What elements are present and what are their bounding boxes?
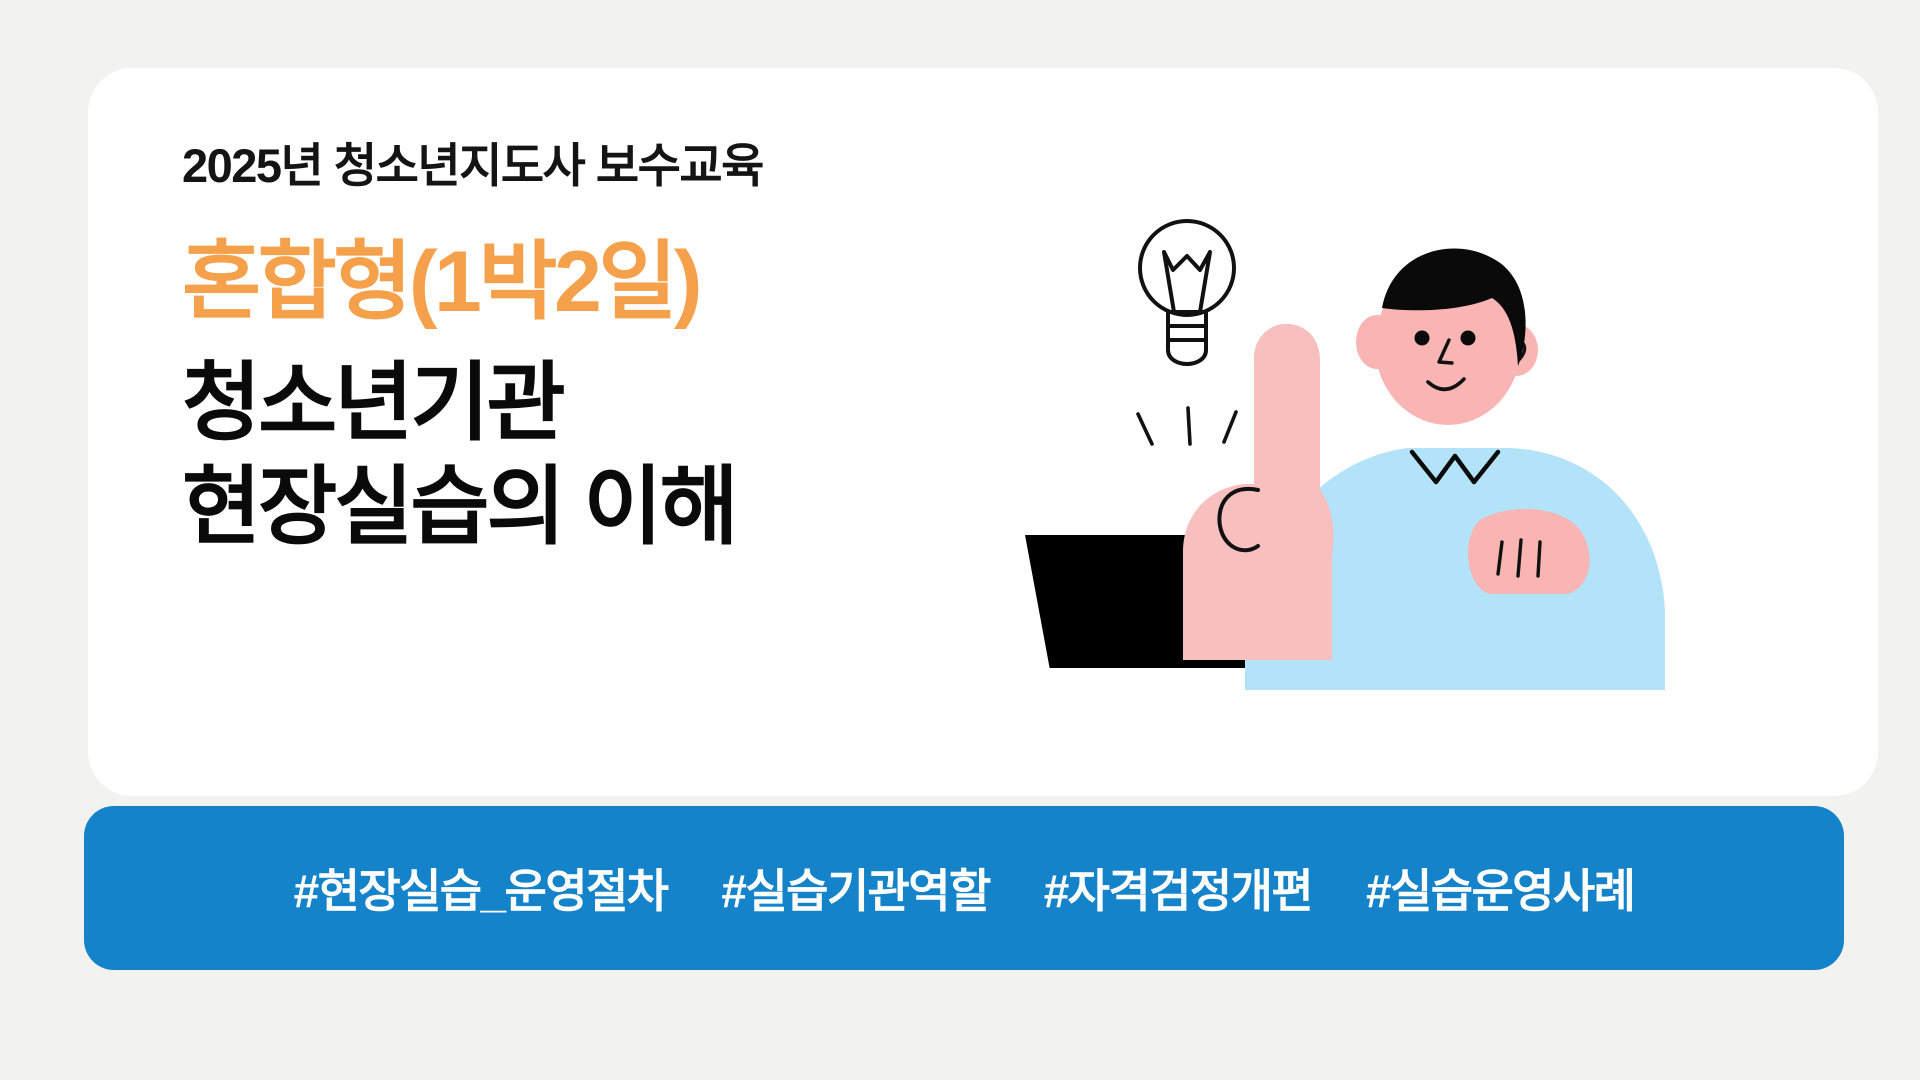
hashtag-bar: #현장실습_운영절차 #실습기관역할 #자격검정개편 #실습운영사례 [84, 806, 1844, 970]
idea-spark-lines [1138, 408, 1236, 444]
headline-black: 청소년기관 현장실습의 이해 [182, 351, 1062, 561]
headline-line-2: 현장실습의 이해 [182, 455, 1062, 560]
hashtag-item[interactable]: #현장실습_운영절차 [294, 855, 668, 921]
hero-illustration [1040, 190, 1660, 790]
person-eye-left [1415, 331, 1430, 346]
poster-canvas: 2025년 청소년지도사 보수교육 혼합형(1박2일) 청소년기관 현장실습의 … [0, 0, 1920, 1080]
hero-text-block: 2025년 청소년지도사 보수교육 혼합형(1박2일) 청소년기관 현장실습의 … [182, 140, 1062, 560]
kicker-text: 2025년 청소년지도사 보수교육 [182, 140, 1062, 192]
hashtag-item[interactable]: #자격검정개편 [1044, 855, 1312, 921]
headline-line-1: 청소년기관 [182, 351, 1062, 456]
hashtag-item[interactable]: #실습기관역할 [721, 855, 989, 921]
lightbulb-icon [1140, 221, 1234, 364]
headline-orange: 혼합형(1박2일) [182, 236, 1062, 329]
person-eye-right [1461, 331, 1476, 346]
person-head [1375, 248, 1526, 425]
hashtag-item[interactable]: #실습운영사례 [1366, 855, 1634, 921]
pointing-hand [1183, 324, 1334, 660]
